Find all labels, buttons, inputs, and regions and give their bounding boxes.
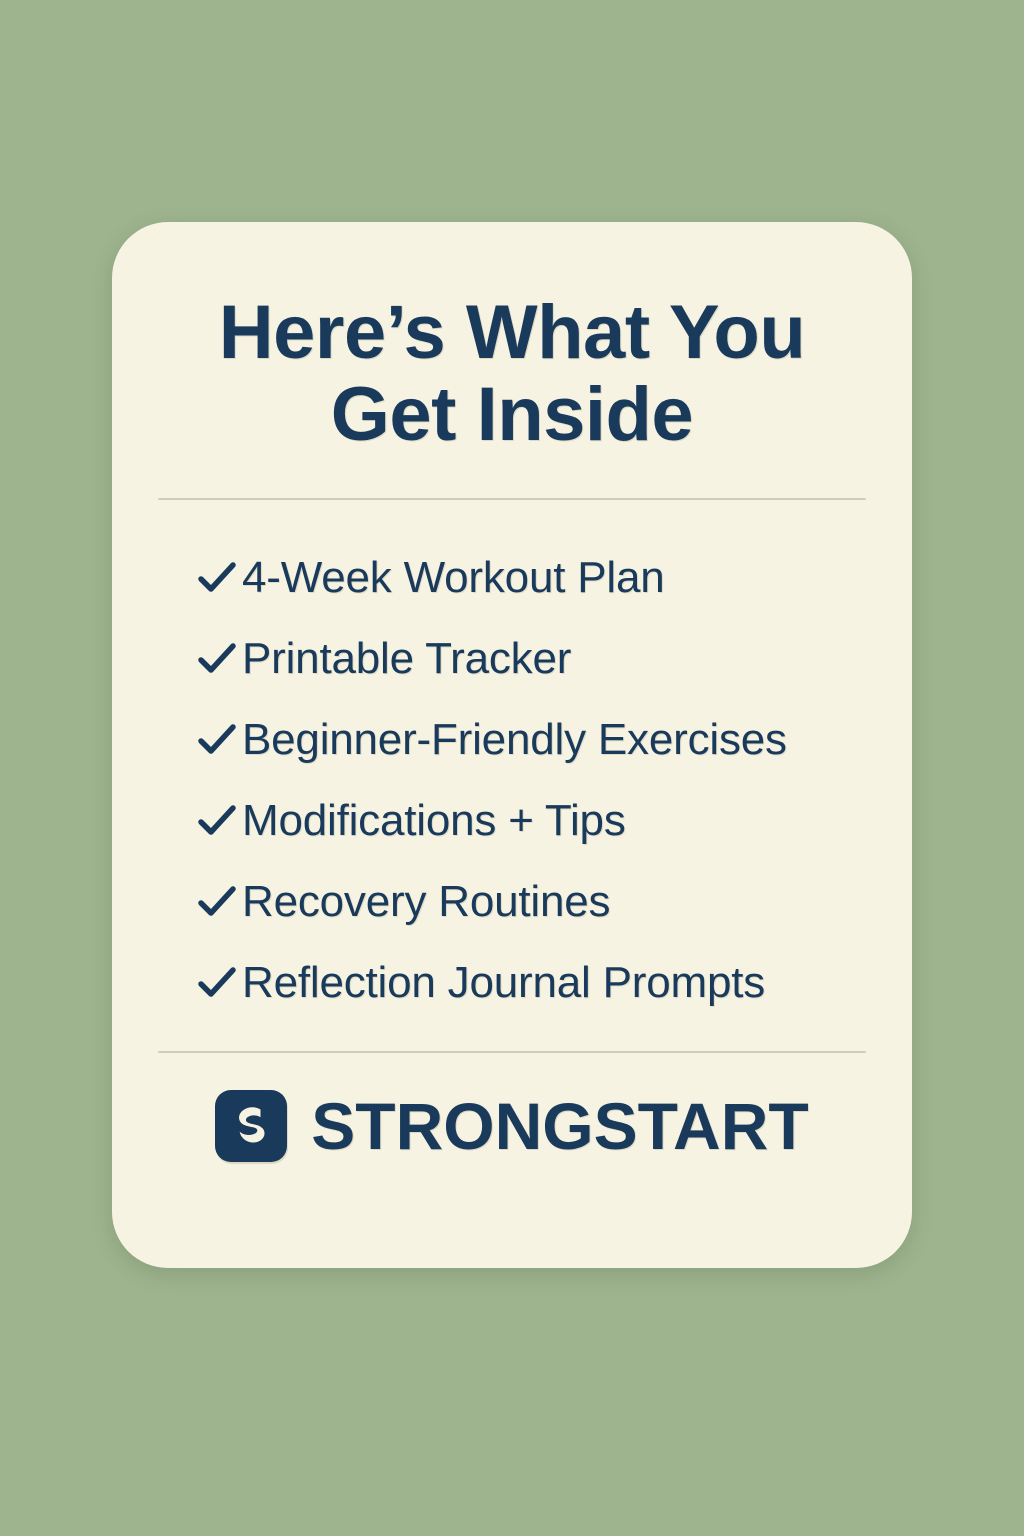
- list-item-label: Printable Tracker: [242, 634, 571, 684]
- page-title: Here’s What You Get Inside: [112, 292, 912, 456]
- check-icon: [198, 562, 242, 594]
- list-item-label: Beginner-Friendly Exercises: [242, 715, 787, 765]
- list-item: Reflection Journal Prompts: [198, 942, 872, 1023]
- divider-top: [158, 498, 866, 500]
- checklist: 4-Week Workout Plan Printable Tracker Be…: [198, 537, 872, 1023]
- list-item: Modifications + Tips: [198, 780, 872, 861]
- check-icon: [198, 643, 242, 675]
- brand-name: STRONGSTART: [311, 1091, 808, 1161]
- check-icon: [198, 805, 242, 837]
- check-icon: [198, 967, 242, 999]
- list-item-label: Modifications + Tips: [242, 796, 626, 846]
- list-item: Printable Tracker: [198, 618, 872, 699]
- brand-lockup: STRONGSTART: [112, 1090, 912, 1162]
- page-title-line-2: Get Inside: [112, 374, 912, 456]
- offer-card: Here’s What You Get Inside 4-Week Workou…: [112, 222, 912, 1268]
- strongstart-s-monogram-icon: [215, 1090, 287, 1162]
- list-item: Beginner-Friendly Exercises: [198, 699, 872, 780]
- list-item-label: 4-Week Workout Plan: [242, 553, 665, 603]
- poster-canvas: Here’s What You Get Inside 4-Week Workou…: [0, 0, 1024, 1536]
- check-icon: [198, 724, 242, 756]
- list-item-label: Recovery Routines: [242, 877, 610, 927]
- list-item: Recovery Routines: [198, 861, 872, 942]
- list-item: 4-Week Workout Plan: [198, 537, 872, 618]
- divider-bottom: [158, 1051, 866, 1053]
- check-icon: [198, 886, 242, 918]
- list-item-label: Reflection Journal Prompts: [242, 958, 765, 1008]
- page-title-line-1: Here’s What You: [112, 292, 912, 374]
